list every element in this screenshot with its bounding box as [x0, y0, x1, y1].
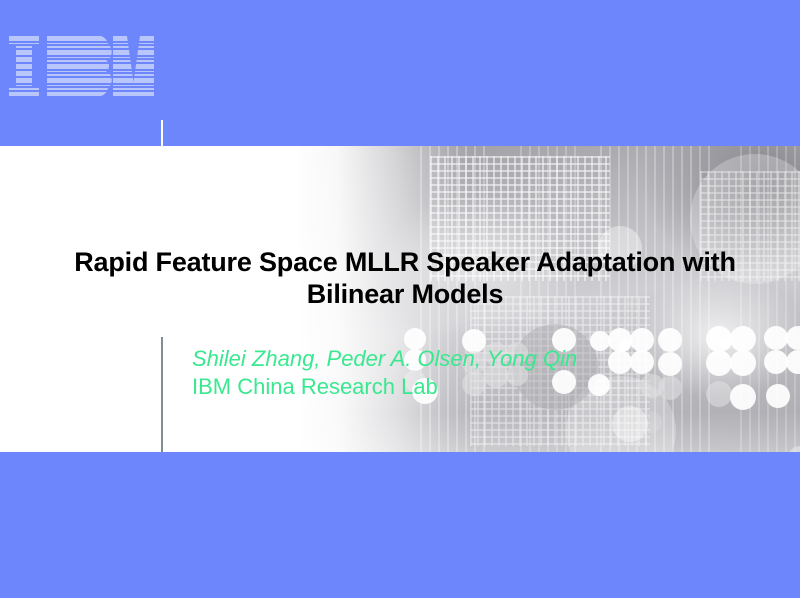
slide-title: Rapid Feature Space MLLR Speaker Adaptat… — [40, 246, 770, 310]
vertical-rule-top — [161, 120, 163, 146]
slide-affiliation: IBM China Research Lab — [192, 373, 438, 401]
ibm-logo-icon — [9, 36, 154, 96]
footer-band — [0, 452, 800, 598]
vertical-rule-bottom — [161, 337, 163, 452]
content-band: Rapid Feature Space MLLR Speaker Adaptat… — [0, 146, 800, 452]
slide-title-line-2: Bilinear Models — [307, 279, 504, 309]
slide-authors: Shilei Zhang, Peder A. Olsen, Yong Qin — [192, 345, 577, 373]
slide-title-line-1: Rapid Feature Space MLLR Speaker Adaptat… — [74, 247, 736, 277]
presentation-title-slide: Rapid Feature Space MLLR Speaker Adaptat… — [0, 0, 800, 598]
